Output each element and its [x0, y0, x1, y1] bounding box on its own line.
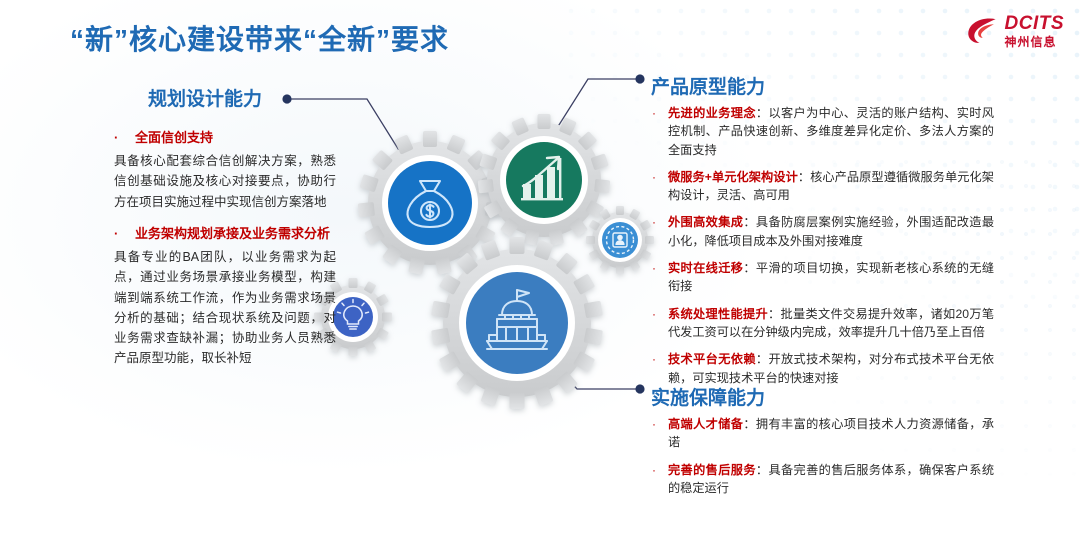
list-item-sep: ： [743, 215, 756, 229]
bullet-icon: · [648, 350, 668, 368]
list-item-title: 技术平台无依赖 [668, 352, 756, 366]
bottom-right-content-list: · 高端人才储备：拥有丰富的核心项目技术人力资源储备，承诺 · 完善的售后服务：… [648, 415, 994, 506]
list-item-text: 微服务+单元化架构设计：核心产品原型遵循微服务单元化架构设计，灵活、高可用 [668, 168, 994, 205]
left-item-1-body: 具备专业的BA团队，以业务需求为起点，通过业务场景承接业务模型，构建端到端系统工… [114, 247, 336, 369]
bullet-icon: · [648, 415, 668, 433]
list-item-sep: ： [798, 170, 810, 184]
list-item-title: 实时在线迁移 [668, 261, 743, 275]
list-item-sep: ： [743, 261, 756, 275]
list-item-sep: ： [768, 307, 781, 321]
connector-left-endpoint [282, 94, 291, 103]
top-right-content-list: · 先进的业务理念：以客户为中心、灵活的账户结构、实时风控机制、产品快速创新、多… [648, 104, 994, 396]
left-content-column: · 全面信创支持 具备核心配套综合信创解决方案，熟悉信创基础设施及核心对接要点，… [114, 128, 336, 373]
list-item: · 技术平台无依赖：开放式技术架构，对分布式技术平台无依赖，可实现技术平台的快速… [648, 350, 994, 387]
left-item-1: · 业务架构规划承接及业务需求分析 具备专业的BA团队，以业务需求为起点，通过业… [114, 224, 336, 369]
left-item-0-heading: · 全面信创支持 [114, 128, 336, 148]
gear-building [431, 237, 603, 409]
list-item-sep: ： [756, 106, 769, 120]
slide-canvas: “新”核心建设带来“全新”要求 DCITS 神州信息 [0, 0, 1080, 540]
bullet-icon: · [114, 224, 128, 244]
bullet-icon: · [648, 461, 668, 479]
list-item: · 完善的售后服务：具备完善的售后服务体系，确保客户系统的稳定运行 [648, 461, 994, 498]
list-item-text: 高端人才储备：拥有丰富的核心项目技术人力资源储备，承诺 [668, 415, 994, 452]
list-item: · 微服务+单元化架构设计：核心产品原型遵循微服务单元化架构设计，灵活、高可用 [648, 168, 994, 205]
bullet-icon: · [648, 168, 668, 186]
page-title: “新”核心建设带来“全新”要求 [70, 18, 449, 58]
list-item-title: 微服务+单元化架构设计 [668, 170, 798, 184]
list-item-sep: ： [756, 352, 769, 366]
gear-money-bag [358, 131, 503, 275]
bullet-icon: · [648, 259, 668, 277]
list-item-sep: ： [756, 463, 769, 477]
list-item-title: 系统处理性能提升 [668, 307, 768, 321]
connector-top-right-endpoint [635, 74, 644, 83]
gears-diagram [300, 95, 670, 445]
list-item: · 实时在线迁移：平滑的项目切换，实现新老核心系统的无缝衔接 [648, 259, 994, 296]
list-item: · 先进的业务理念：以客户为中心、灵活的账户结构、实时风控机制、产品快速创新、多… [648, 104, 994, 159]
list-item-title: 先进的业务理念 [668, 106, 756, 120]
left-item-1-heading: · 业务架构规划承接及业务需求分析 [114, 224, 336, 244]
left-item-0: · 全面信创支持 具备核心配套综合信创解决方案，熟悉信创基础设施及核心对接要点，… [114, 128, 336, 212]
list-item-text: 实时在线迁移：平滑的项目切换，实现新老核心系统的无缝衔接 [668, 259, 994, 296]
left-item-0-title: 全面信创支持 [128, 128, 336, 148]
list-item-text: 先进的业务理念：以客户为中心、灵活的账户结构、实时风控机制、产品快速创新、多维度… [668, 104, 994, 159]
bullet-icon: · [648, 104, 668, 122]
list-item-title: 外围高效集成 [668, 215, 743, 229]
heading-product-prototype: 产品原型能力 [651, 72, 765, 99]
list-item: · 外围高效集成：具备防腐层案例实施经验，外围适配改造最小化，降低项目成本及外围… [648, 213, 994, 250]
logo-text-group: DCITS 神州信息 [1005, 14, 1065, 48]
bullet-icon: · [648, 305, 668, 323]
list-item-text: 系统处理性能提升：批量类文件交易提升效率，诸如20万笔代发工资可以在分钟级内完成… [668, 305, 994, 342]
left-item-1-title: 业务架构规划承接及业务需求分析 [128, 224, 336, 244]
heading-planning-design: 规划设计能力 [148, 84, 262, 111]
logo-name-cn: 神州信息 [1005, 36, 1065, 48]
logo-name-en: DCITS [1005, 14, 1065, 33]
list-item-text: 外围高效集成：具备防腐层案例实施经验，外围适配改造最小化，降低项目成本及外围对接… [668, 213, 994, 250]
list-item: · 系统处理性能提升：批量类文件交易提升效率，诸如20万笔代发工资可以在分钟级内… [648, 305, 994, 342]
brand-logo: DCITS 神州信息 [965, 14, 1065, 48]
left-item-0-body: 具备核心配套综合信创解决方案，熟悉信创基础设施及核心对接要点，协助行方在项目实施… [114, 151, 336, 212]
bullet-icon: · [648, 213, 668, 231]
list-item: · 高端人才储备：拥有丰富的核心项目技术人力资源储备，承诺 [648, 415, 994, 452]
list-item-sep: ： [743, 417, 756, 431]
list-item-title: 高端人才储备 [668, 417, 743, 431]
list-item-title: 完善的售后服务 [668, 463, 756, 477]
gears-svg [300, 95, 670, 445]
dcits-swirl-icon [965, 14, 999, 48]
list-item-text: 技术平台无依赖：开放式技术架构，对分布式技术平台无依赖，可实现技术平台的快速对接 [668, 350, 994, 387]
list-item-text: 完善的售后服务：具备完善的售后服务体系，确保客户系统的稳定运行 [668, 461, 994, 498]
bullet-icon: · [114, 128, 128, 148]
